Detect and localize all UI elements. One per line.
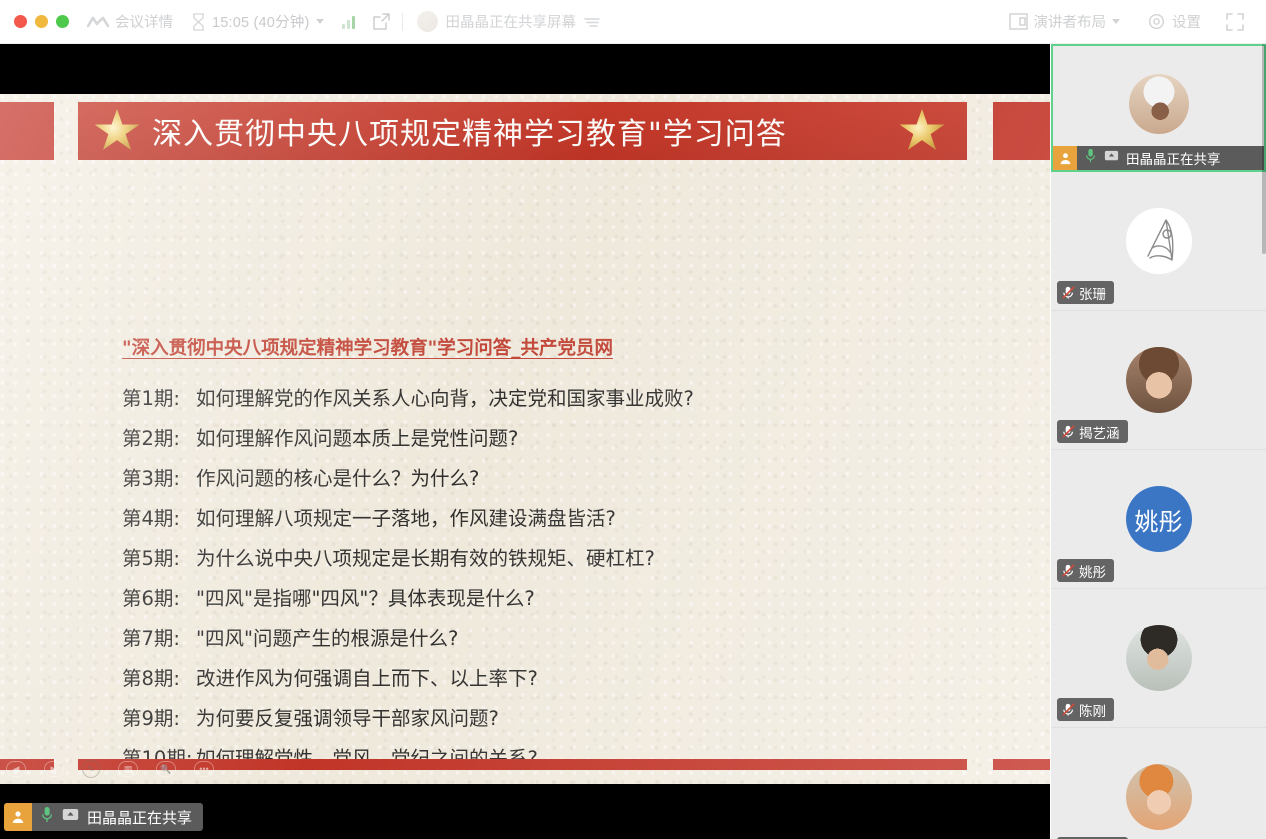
popout-window-button[interactable] bbox=[373, 13, 390, 30]
presentation-slide: 深入贯彻中央八项规定精神学习教育"学习问答 "深入贯彻中央八项规定精神学习教育"… bbox=[0, 94, 1050, 784]
meeting-details-label: 会议详情 bbox=[115, 11, 173, 32]
sharer-status-label: 田晶晶正在共享屏幕 bbox=[446, 11, 577, 32]
participant-name-pill: 田晶晶正在共享 bbox=[1053, 146, 1264, 170]
participant-name: 陈刚 bbox=[1079, 700, 1106, 720]
item-number: 第3期: bbox=[122, 462, 196, 491]
star-icon bbox=[899, 109, 945, 153]
toolbar-divider bbox=[402, 13, 403, 31]
dingtalk-logo-icon bbox=[87, 15, 109, 29]
screen-share-icon bbox=[62, 808, 79, 827]
list-item: 第3期: 作风问题的核心是什么？为什么? bbox=[122, 462, 982, 502]
prev-slide-icon[interactable]: ◀ bbox=[6, 761, 26, 777]
item-number: 第5期: bbox=[122, 542, 196, 571]
chevron-down-icon[interactable] bbox=[1112, 19, 1120, 24]
item-number: 第1期: bbox=[122, 382, 196, 411]
sharer-pill-label: 田晶晶正在共享 bbox=[87, 807, 203, 828]
shared-screen-stage[interactable]: 深入贯彻中央八项规定精神学习教育"学习问答 "深入贯彻中央八项规定精神学习教育"… bbox=[0, 44, 1050, 839]
person-icon bbox=[1053, 146, 1077, 170]
list-item: 第8期: 改进作风为何强调自上而下、以上率下? bbox=[122, 662, 982, 702]
item-text: 如何理解作风问题本质上是党性问题? bbox=[196, 422, 518, 451]
item-number: 第7期: bbox=[122, 622, 196, 651]
list-item: 第5期: 为什么说中央八项规定是长期有效的铁规矩、硬杠杠? bbox=[122, 542, 982, 582]
list-item: 第1期: 如何理解党的作风关系人心向背，决定党和国家事业成败? bbox=[122, 382, 982, 422]
participant-name: 张珊 bbox=[1079, 283, 1106, 303]
list-item: 第4期: 如何理解八项规定一子落地，作风建设满盘皆活? bbox=[122, 502, 982, 542]
participant-name-pill: 陈刚 bbox=[1057, 698, 1114, 721]
avatar bbox=[1126, 625, 1192, 691]
all-slides-icon[interactable]: ▦ bbox=[118, 761, 138, 777]
slide-title: 深入贯彻中央八项规定精神学习教育"学习问答 bbox=[152, 109, 787, 153]
question-list: 第1期: 如何理解党的作风关系人心向背，决定党和国家事业成败? 第2期: 如何理… bbox=[122, 382, 982, 782]
presenter-layout-icon bbox=[1009, 13, 1028, 30]
microphone-off-icon bbox=[1057, 702, 1079, 717]
microphone-off-icon bbox=[1057, 563, 1079, 578]
item-text: 如何理解党的作风关系人心向背，决定党和国家事业成败? bbox=[196, 382, 694, 411]
item-text: "四风"问题产生的根源是什么? bbox=[196, 622, 458, 651]
letterbox-top bbox=[0, 44, 1050, 94]
participant-tile-active[interactable]: 田晶晶正在共享 bbox=[1051, 44, 1266, 172]
participant-tile[interactable]: 陈刚 bbox=[1051, 589, 1266, 728]
participant-name: 揭艺涵 bbox=[1079, 422, 1120, 442]
person-icon bbox=[4, 803, 32, 831]
item-number: 第4期: bbox=[122, 502, 196, 531]
presenter-layout-button[interactable]: 演讲者布局 bbox=[1003, 7, 1127, 36]
close-button[interactable] bbox=[14, 15, 27, 28]
list-item: 第2期: 如何理解作风问题本质上是党性问题? bbox=[122, 422, 982, 462]
participant-name: 田晶晶正在共享 bbox=[1126, 148, 1221, 168]
meeting-details-button[interactable]: 会议详情 bbox=[87, 11, 173, 32]
sketch-avatar-icon bbox=[1126, 208, 1192, 274]
zoom-icon[interactable]: 🔍 bbox=[156, 761, 176, 777]
fullscreen-button[interactable] bbox=[1220, 9, 1250, 35]
participant-tile[interactable]: 秦思莹 bbox=[1051, 728, 1266, 839]
item-text: 为什么说中央八项规定是长期有效的铁规矩、硬杠杠? bbox=[196, 542, 655, 571]
participant-name: 姚彤 bbox=[1079, 561, 1106, 581]
item-number: 第9期: bbox=[122, 702, 196, 731]
popout-window-icon bbox=[373, 13, 390, 30]
meeting-timer[interactable]: 15:05 (40分钟) bbox=[191, 11, 324, 32]
star-icon bbox=[94, 109, 140, 153]
participant-tile[interactable]: 姚彤 姚彤 bbox=[1051, 450, 1266, 589]
hourglass-icon bbox=[191, 13, 206, 31]
avatar: 姚彤 bbox=[1126, 486, 1192, 552]
slideshow-toolbar[interactable]: ◀ ▶ ✎ ▦ 🔍 ••• bbox=[0, 758, 214, 780]
participant-tile[interactable]: 张珊 bbox=[1051, 172, 1266, 311]
participant-rail[interactable]: 田晶晶正在共享 张珊 bbox=[1051, 44, 1266, 839]
item-text: "四风"是指哪"四风"？具体表现是什么? bbox=[196, 582, 535, 611]
window-titlebar: 会议详情 15:05 (40分钟) 田晶晶正在共享屏幕 bbox=[0, 0, 1266, 44]
pen-icon[interactable]: ✎ bbox=[82, 760, 100, 778]
network-signal-button[interactable] bbox=[342, 15, 355, 29]
item-text: 为何要反复强调领导干部家风问题? bbox=[196, 702, 499, 731]
avatar bbox=[1126, 208, 1192, 274]
next-slide-icon[interactable]: ▶ bbox=[44, 761, 64, 777]
item-number: 第6期: bbox=[122, 582, 196, 611]
microphone-icon bbox=[1085, 148, 1096, 168]
signal-bars-icon bbox=[342, 15, 355, 29]
sharer-status[interactable]: 田晶晶正在共享屏幕 bbox=[417, 11, 601, 32]
settings-button[interactable]: 设置 bbox=[1141, 7, 1207, 36]
chevron-down-icon[interactable] bbox=[316, 19, 324, 24]
item-text: 作风问题的核心是什么？为什么? bbox=[196, 462, 479, 491]
avatar bbox=[1126, 764, 1192, 830]
item-text: 改进作风为何强调自上而下、以上率下? bbox=[196, 662, 538, 691]
banner-block-right bbox=[993, 102, 1050, 160]
rail-scrollbar[interactable] bbox=[1262, 44, 1266, 254]
fullscreen-icon bbox=[1226, 13, 1244, 31]
settings-label: 设置 bbox=[1172, 11, 1201, 32]
list-item: 第9期: 为何要反复强调领导干部家风问题? bbox=[122, 702, 982, 742]
microphone-off-icon bbox=[1057, 424, 1079, 439]
item-number: 第8期: bbox=[122, 662, 196, 691]
avatar bbox=[417, 11, 438, 32]
microphone-icon bbox=[41, 806, 53, 828]
zoom-button[interactable] bbox=[56, 15, 69, 28]
avatar bbox=[1126, 347, 1192, 413]
participant-tile[interactable]: 揭艺涵 bbox=[1051, 311, 1266, 450]
timer-text: 15:05 (40分钟) bbox=[212, 11, 310, 32]
more-lines-icon[interactable] bbox=[584, 16, 600, 28]
avatar-initials: 姚彤 bbox=[1126, 486, 1192, 552]
avatar bbox=[1129, 74, 1189, 134]
slide-source-link[interactable]: "深入贯彻中央八项规定精神学习教育"学习问答_共产党员网 bbox=[122, 334, 613, 360]
item-number: 第2期: bbox=[122, 422, 196, 451]
slide-title-banner: 深入贯彻中央八项规定精神学习教育"学习问答 bbox=[78, 102, 967, 160]
microphone-off-icon bbox=[1057, 285, 1079, 300]
item-text: 如何理解八项规定一子落地，作风建设满盘皆活? bbox=[196, 502, 616, 531]
participant-name-pill: 揭艺涵 bbox=[1057, 420, 1128, 443]
participant-name-pill: 姚彤 bbox=[1057, 559, 1114, 582]
sharer-name-pill[interactable]: 田晶晶正在共享 bbox=[4, 803, 203, 831]
gear-icon bbox=[1147, 12, 1166, 31]
list-item: 第6期: "四风"是指哪"四风"？具体表现是什么? bbox=[122, 582, 982, 622]
minimize-button[interactable] bbox=[35, 15, 48, 28]
screen-share-icon bbox=[1104, 149, 1119, 167]
footer-bar-right bbox=[993, 759, 1050, 770]
list-item: 第7期: "四风"问题产生的根源是什么? bbox=[122, 622, 982, 662]
presenter-layout-label: 演讲者布局 bbox=[1034, 11, 1107, 32]
more-options-icon[interactable]: ••• bbox=[194, 761, 214, 777]
banner-block-left bbox=[0, 102, 54, 160]
window-controls bbox=[0, 15, 69, 28]
participant-name-pill: 张珊 bbox=[1057, 281, 1114, 304]
